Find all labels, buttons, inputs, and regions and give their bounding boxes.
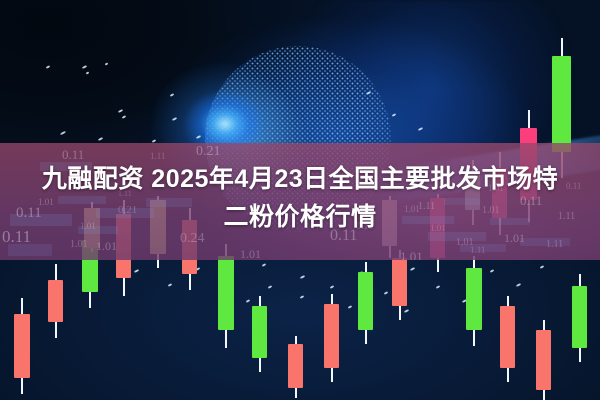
candlestick-down (536, 320, 551, 400)
candlestick-body (324, 304, 339, 368)
ghost-price-number: 1.11 (546, 240, 563, 250)
candlestick-body (500, 306, 515, 368)
ghost-price-number: 0.21 (196, 145, 221, 159)
candlestick-down (500, 296, 515, 382)
ghost-price-number: 1.11 (470, 246, 485, 255)
candlestick-up (358, 262, 373, 344)
ghost-price-number: 1.01 (400, 250, 423, 260)
candlestick-body (572, 286, 587, 348)
candlestick-body (252, 306, 267, 358)
candlestick-down (288, 336, 303, 398)
candlestick-body (48, 280, 63, 322)
banner-image: 0.111.110.110.211.010.110.111.011.011.01… (0, 0, 600, 400)
ghost-price-number: 1.01 (96, 240, 117, 252)
title-line-2: 二粉价格行情 (0, 198, 600, 236)
candlestick-body (536, 330, 551, 390)
banner-title: 九融配资 2025年4月23日全国主要批发市场特 二粉价格行情 (0, 160, 600, 236)
candlestick-body (552, 56, 571, 152)
candlestick-body (466, 268, 482, 330)
candlestick-down (48, 264, 63, 338)
title-line-1: 九融配资 2025年4月23日全国主要批发市场特 (0, 160, 600, 198)
candlestick-up (466, 256, 482, 346)
candlestick-body (218, 256, 234, 330)
candlestick-down (392, 250, 407, 320)
ghost-price-number: 1.01 (240, 248, 261, 260)
candlestick-up (252, 296, 267, 372)
candlestick-body (392, 258, 407, 306)
candlestick-up (572, 274, 587, 362)
candlestick-down (324, 294, 339, 382)
candlestick-body (358, 272, 373, 330)
ghost-price-number: 1.01 (70, 240, 88, 250)
candlestick-down (14, 298, 30, 394)
candlestick-body (288, 344, 303, 388)
candlestick-body (14, 314, 30, 378)
